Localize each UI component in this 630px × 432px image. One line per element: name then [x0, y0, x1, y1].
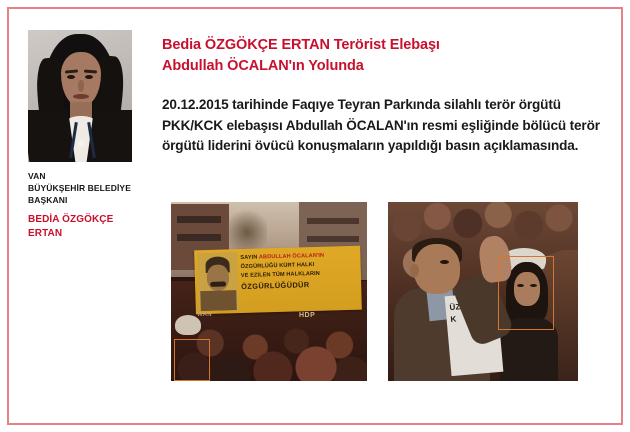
- page-title: Bedia ÖZGÖKÇE ERTAN Terörist Elebaşı Abd…: [162, 35, 602, 77]
- headline-line-1: Bedia ÖZGÖKÇE ERTAN Terörist Elebaşı: [162, 35, 602, 56]
- photo-right-man-ear: [410, 264, 419, 277]
- banner-line-1-highlight: ABDULLAH ÖCALAN'IN: [259, 253, 324, 261]
- ocalan-face: [207, 264, 230, 291]
- photo-left-secondary-tag: WAN: [197, 312, 257, 322]
- banner-line-1-plain: SAYIN: [240, 255, 259, 262]
- portrait-eye-right: [85, 75, 93, 79]
- photo-right-man-head: [414, 244, 460, 294]
- photo-right-man-eye: [440, 260, 449, 264]
- photo-left-party-tag: HDP: [299, 312, 323, 322]
- person-title-caption: VAN BÜYÜKŞEHİR BELEDİYE BAŞKANI: [28, 170, 146, 206]
- ocalan-body: [200, 290, 237, 311]
- portrait-nose: [78, 80, 84, 92]
- ocalan-portrait-on-banner: [197, 252, 239, 311]
- headline-line-2: Abdullah ÖCALAN'ın Yolunda: [162, 56, 602, 77]
- portrait-photo: [28, 30, 132, 162]
- photo-left-tree: [227, 206, 267, 250]
- person-name-caption: BEDİA ÖZGÖKÇE ERTAN: [28, 213, 146, 241]
- highlight-box-right-photo: [498, 256, 554, 330]
- banner-text-block: SAYIN ABDULLAH ÖCALAN'IN ÖZGÜRLÜĞÜ KÜRT …: [240, 251, 357, 293]
- body-paragraph: 20.12.2015 tarihinde Faqıye Teyran Parkı…: [162, 95, 610, 157]
- ocalan-moustache: [210, 281, 226, 286]
- portrait-mouth: [73, 94, 89, 99]
- portrait-badge: [78, 140, 85, 147]
- banner-line-4: ÖZGÜRLÜĞÜDÜR: [241, 278, 357, 293]
- photo-right-crowd: ÜZL K: [388, 202, 578, 381]
- portrait-eye-left: [67, 75, 75, 79]
- highlight-box-left-photo: [174, 339, 210, 381]
- left-column: VAN BÜYÜKŞEHİR BELEDİYE BAŞKANI BEDİA ÖZ…: [28, 30, 146, 241]
- photo-left-rally-banner: SAYIN ABDULLAH ÖCALAN'IN ÖZGÜRLÜĞÜ KÜRT …: [171, 202, 367, 381]
- protest-banner: SAYIN ABDULLAH ÖCALAN'IN ÖZGÜRLÜĞÜ KÜRT …: [194, 246, 362, 315]
- poster-card: VAN BÜYÜKŞEHİR BELEDİYE BAŞKANI BEDİA ÖZ…: [7, 7, 623, 425]
